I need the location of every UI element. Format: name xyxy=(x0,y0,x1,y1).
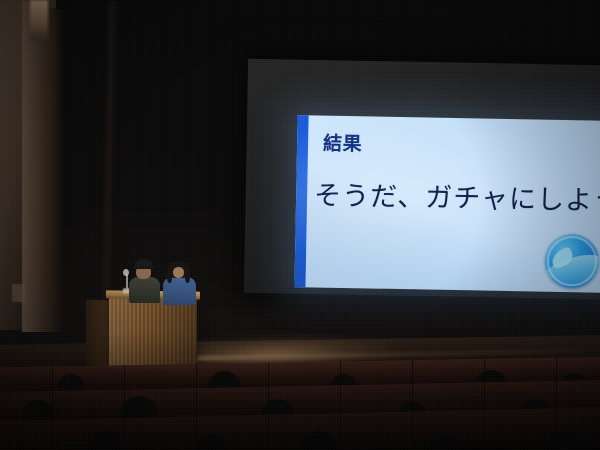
speaker-right-face xyxy=(173,267,184,278)
seat-back xyxy=(340,412,413,450)
lectern-side-panel xyxy=(86,299,110,366)
left-wall-highlight xyxy=(30,0,48,40)
slide-body-text: そうだ、ガチャにしよう xyxy=(314,173,600,217)
seat-back xyxy=(124,364,197,391)
seat-back xyxy=(124,416,197,450)
left-wall-bevel xyxy=(22,0,62,332)
slide-accent-bar xyxy=(294,115,308,287)
speaker-right-hair-left xyxy=(167,269,172,283)
seat-back xyxy=(556,379,600,410)
microphone-left-stem xyxy=(126,274,128,290)
seat-back xyxy=(0,420,53,450)
wall-light-switch-plate-icon xyxy=(12,284,25,302)
seat-back xyxy=(52,390,125,421)
lecture-hall-photo: 結果 そうだ、ガチャにしよう xyxy=(0,0,600,450)
seat-back xyxy=(0,366,53,393)
blue-whale-sphere-logo-icon xyxy=(544,234,599,289)
speaker-left-body xyxy=(129,277,160,303)
wooden-lectern xyxy=(109,295,197,370)
speaker-left-cap-brim xyxy=(133,266,154,269)
speaker-right-hair-right xyxy=(185,269,190,283)
projected-slide: 結果 そうだ、ガチャにしよう xyxy=(294,115,600,293)
slide-title: 結果 xyxy=(323,129,363,157)
microphone-left-head-icon xyxy=(123,269,129,276)
seat-back xyxy=(196,387,269,418)
